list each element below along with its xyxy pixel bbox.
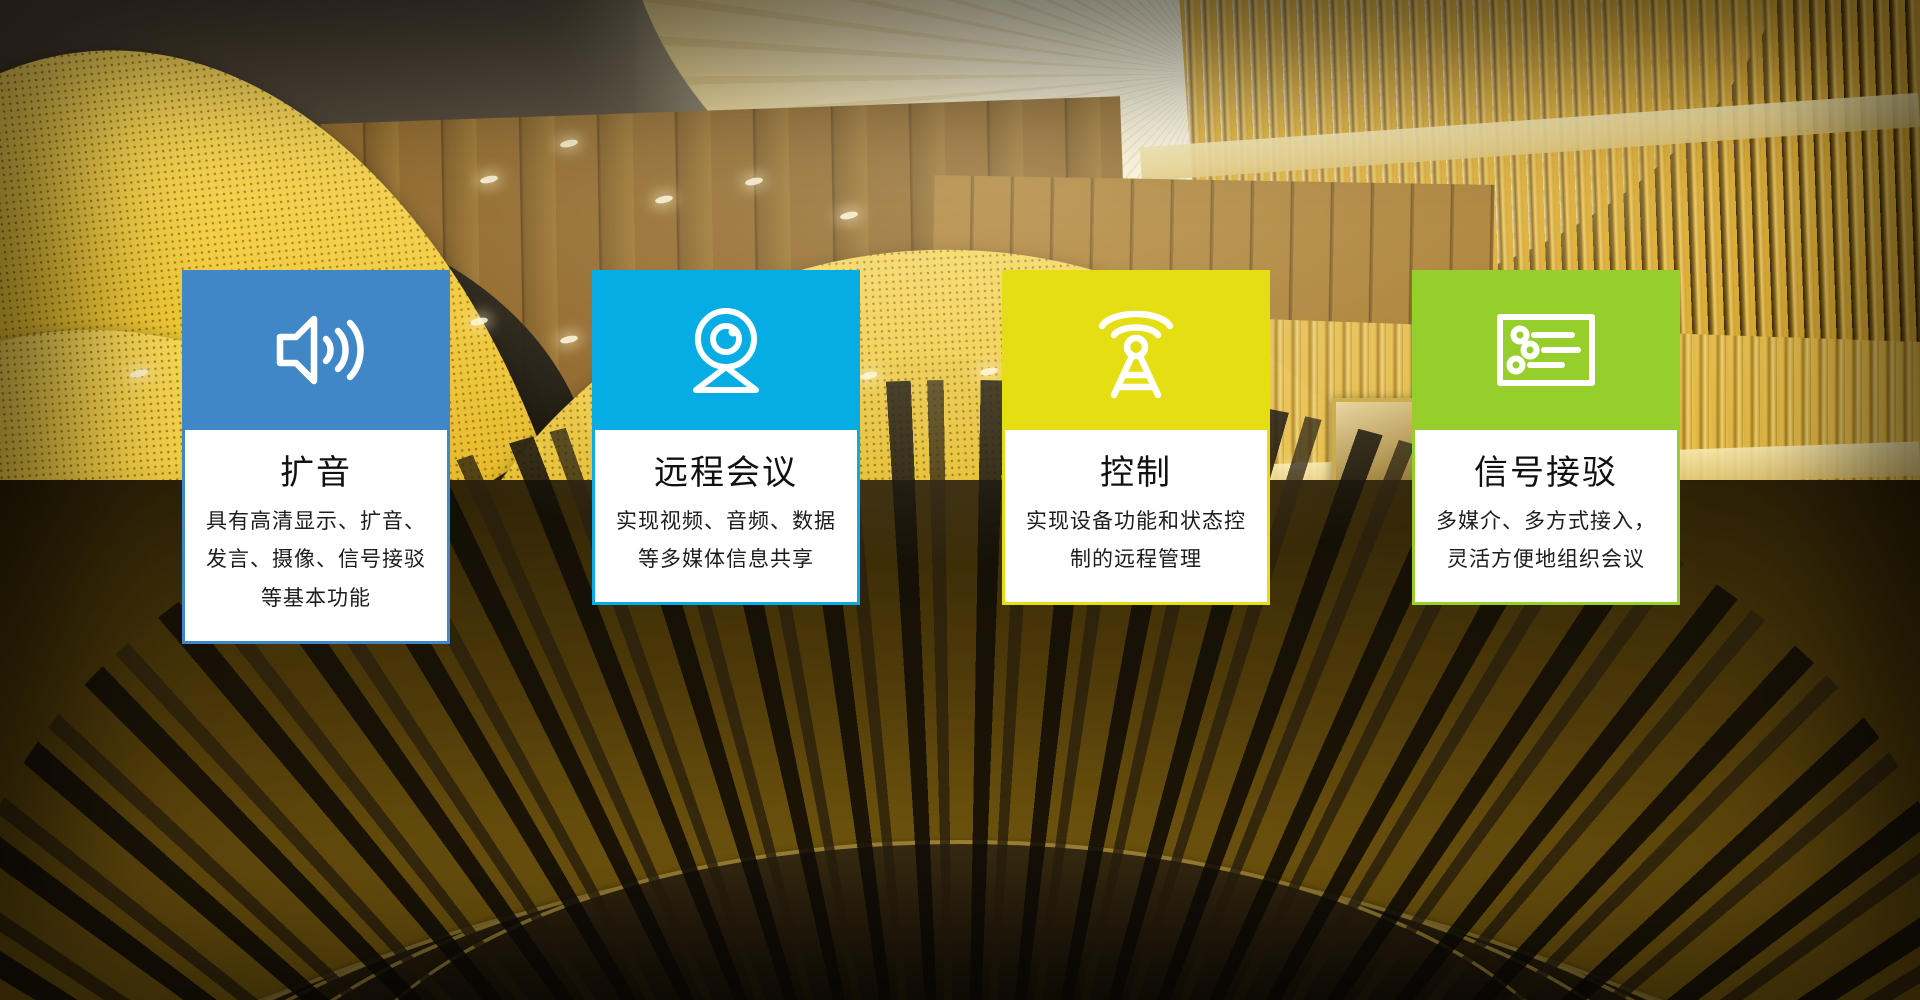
signal-patch-panel-icon bbox=[1496, 313, 1596, 387]
feature-card-signal-access[interactable]: 信号接驳 多媒介、多方式接入，灵活方便地组织会议 bbox=[1412, 270, 1680, 605]
card-title-signal-access: 信号接驳 bbox=[1431, 452, 1661, 495]
feature-card-row: 扩音 具有高清显示、扩音、发言、摄像、信号接驳等基本功能 远程会议 实现视频、音 bbox=[0, 0, 1920, 1000]
card-description-remote-conference: 实现视频、音频、数据等多媒体信息共享 bbox=[611, 503, 841, 581]
card-icon-header-signal-access bbox=[1412, 270, 1680, 430]
card-body-control: 控制 实现设备功能和状态控制的远程管理 bbox=[1002, 430, 1270, 605]
card-description-amplification: 具有高清显示、扩音、发言、摄像、信号接驳等基本功能 bbox=[201, 503, 431, 620]
webcam-icon bbox=[680, 306, 772, 394]
speaker-volume-icon bbox=[268, 308, 364, 392]
card-icon-header-remote-conference bbox=[592, 270, 860, 430]
card-description-signal-access: 多媒介、多方式接入，灵活方便地组织会议 bbox=[1431, 503, 1661, 581]
broadcast-tower-icon bbox=[1096, 300, 1176, 400]
feature-card-control[interactable]: 控制 实现设备功能和状态控制的远程管理 bbox=[1002, 270, 1270, 605]
feature-card-remote-conference[interactable]: 远程会议 实现视频、音频、数据等多媒体信息共享 bbox=[592, 270, 860, 605]
card-body-amplification: 扩音 具有高清显示、扩音、发言、摄像、信号接驳等基本功能 bbox=[182, 430, 450, 644]
card-body-remote-conference: 远程会议 实现视频、音频、数据等多媒体信息共享 bbox=[592, 430, 860, 605]
card-icon-header-amplification bbox=[182, 270, 450, 430]
card-description-control: 实现设备功能和状态控制的远程管理 bbox=[1021, 503, 1251, 581]
card-title-remote-conference: 远程会议 bbox=[611, 452, 841, 495]
page-root: 扩音 具有高清显示、扩音、发言、摄像、信号接驳等基本功能 远程会议 实现视频、音 bbox=[0, 0, 1920, 1000]
card-body-signal-access: 信号接驳 多媒介、多方式接入，灵活方便地组织会议 bbox=[1412, 430, 1680, 605]
card-icon-header-control bbox=[1002, 270, 1270, 430]
card-title-amplification: 扩音 bbox=[201, 452, 431, 495]
card-title-control: 控制 bbox=[1021, 452, 1251, 495]
feature-card-amplification[interactable]: 扩音 具有高清显示、扩音、发言、摄像、信号接驳等基本功能 bbox=[182, 270, 450, 644]
